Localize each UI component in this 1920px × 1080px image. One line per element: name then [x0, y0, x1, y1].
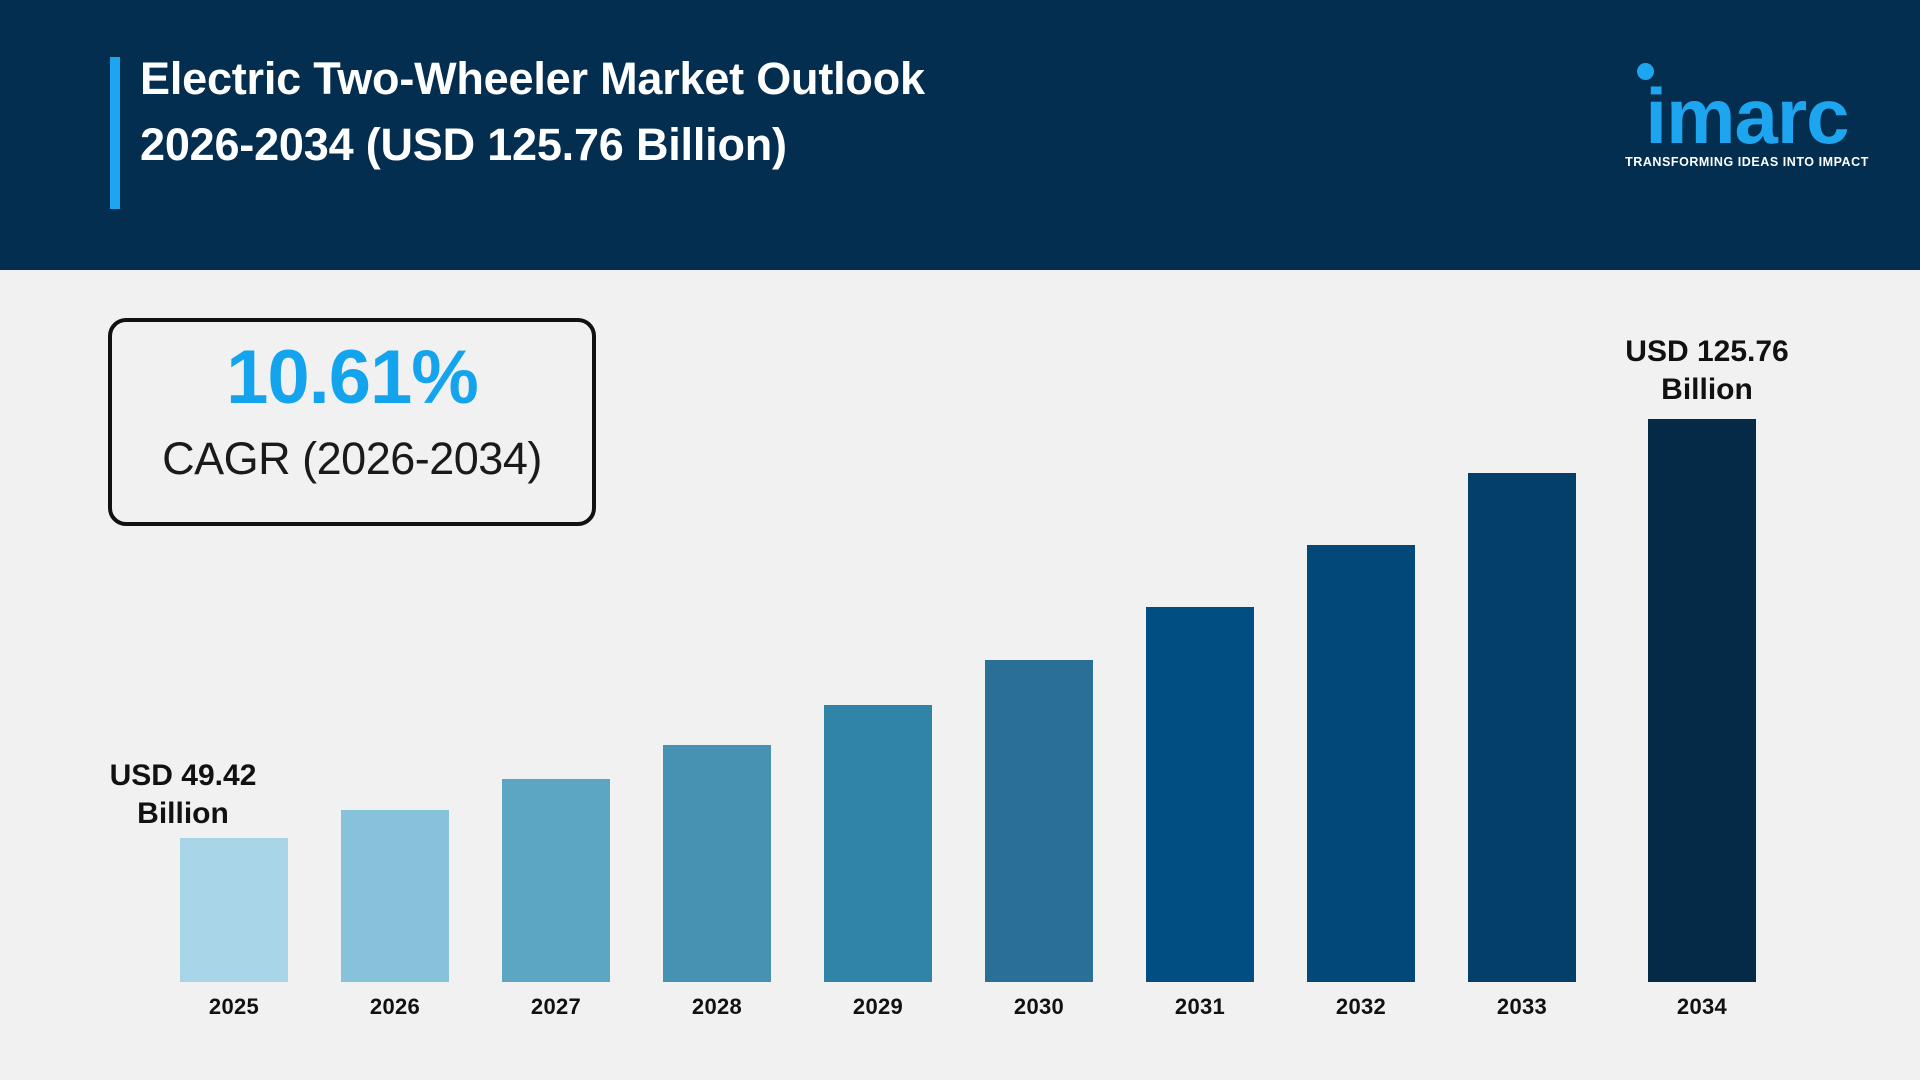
title-accent-bar — [110, 57, 120, 209]
bar-group-2030: 2030 — [985, 660, 1093, 982]
bar-2032[interactable] — [1307, 545, 1415, 982]
bar-2026[interactable] — [341, 810, 449, 982]
bar-2028[interactable] — [663, 745, 771, 982]
bar-2027[interactable] — [502, 779, 610, 982]
x-axis-label-2032: 2032 — [1277, 994, 1445, 1020]
bar-group-2025: 2025 — [180, 838, 288, 982]
x-axis-label-2025: 2025 — [150, 994, 318, 1020]
bar-group-2027: 2027 — [502, 779, 610, 982]
x-axis-label-2034: 2034 — [1618, 994, 1786, 1020]
bar-2031[interactable] — [1146, 607, 1254, 982]
bar-group-2026: 2026 — [341, 810, 449, 982]
bar-2034[interactable] — [1648, 419, 1756, 982]
logo-tagline: TRANSFORMING IDEAS INTO IMPACT — [1612, 155, 1882, 169]
title-line-1: Electric Two-Wheeler Market Outlook — [140, 46, 1440, 112]
bar-group-2033: 2033 — [1468, 473, 1576, 982]
bar-group-2029: 2029 — [824, 705, 932, 982]
bar-2029[interactable] — [824, 705, 932, 982]
logo-wordmark: imarc — [1612, 77, 1882, 155]
bar-group-2028: 2028 — [663, 745, 771, 982]
x-axis-label-2031: 2031 — [1116, 994, 1284, 1020]
x-axis-label-2030: 2030 — [955, 994, 1123, 1020]
x-axis-label-2029: 2029 — [794, 994, 962, 1020]
last-year-value-label: USD 125.76 Billion — [1592, 333, 1822, 408]
x-axis-label-2026: 2026 — [311, 994, 479, 1020]
bar-group-2032: 2032 — [1307, 545, 1415, 982]
bar-group-2031: 2031 — [1146, 607, 1254, 982]
page-header: Electric Two-Wheeler Market Outlook 2026… — [0, 0, 1920, 270]
bar-2030[interactable] — [985, 660, 1093, 982]
title-line-2: 2026-2034 (USD 125.76 Billion) — [140, 112, 1440, 178]
x-axis-label-2033: 2033 — [1438, 994, 1606, 1020]
bar-2025[interactable] — [180, 838, 288, 982]
bar-2033[interactable] — [1468, 473, 1576, 982]
page-title: Electric Two-Wheeler Market Outlook 2026… — [140, 46, 1440, 177]
imarc-logo: imarc TRANSFORMING IDEAS INTO IMPACT — [1612, 55, 1882, 175]
bar-group-2034: 2034 — [1648, 419, 1756, 982]
x-axis-label-2027: 2027 — [472, 994, 640, 1020]
x-axis-label-2028: 2028 — [633, 994, 801, 1020]
first-year-value-label: USD 49.42 Billion — [68, 757, 298, 832]
